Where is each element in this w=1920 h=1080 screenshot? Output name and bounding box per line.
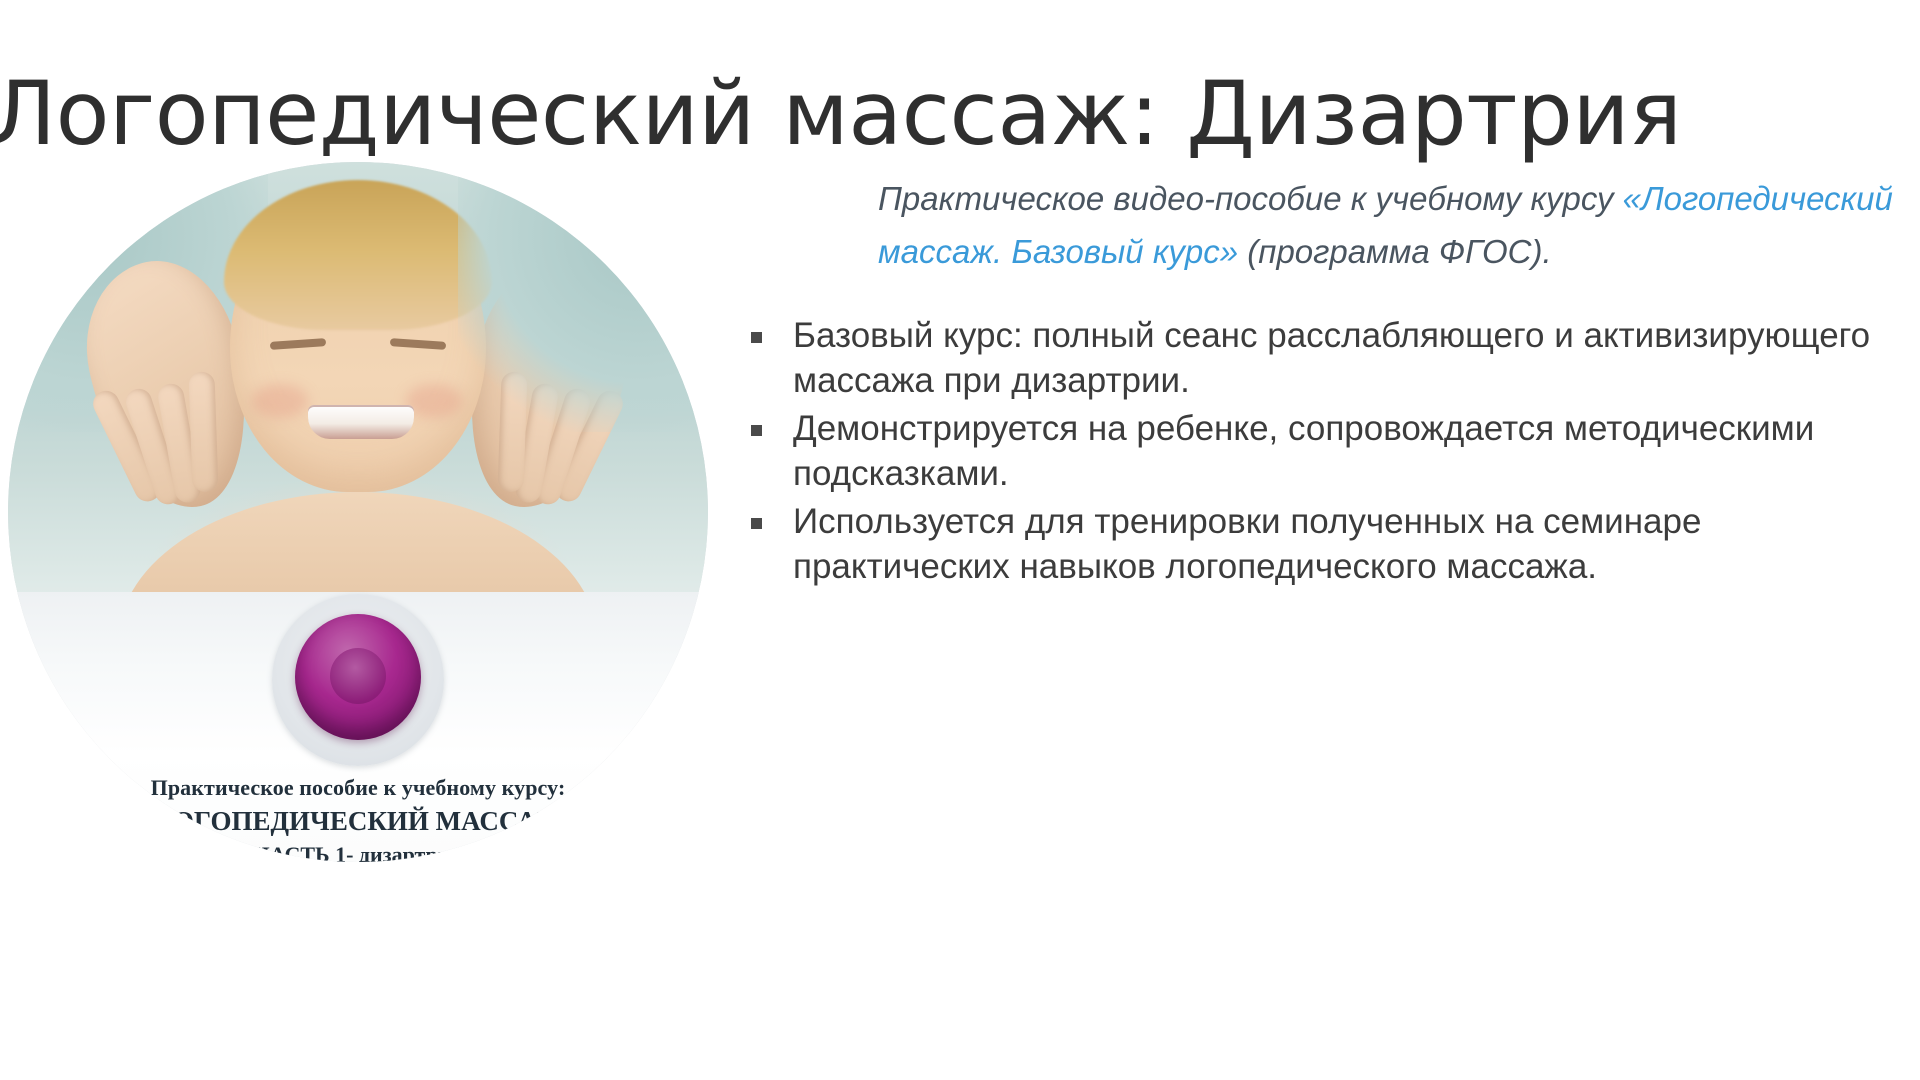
list-item: Демонстрируется на ребенке, сопровождает… [745,406,1920,497]
square-bullet-icon [751,425,762,436]
feature-list: Базовый курс: полный сеанс расслабляющег… [745,313,1920,590]
disc-printed-label: Практическое пособие к учебному курсу: «… [8,774,708,862]
child-hair [224,180,492,330]
product-description: Практическое видео-пособие к учебному ку… [745,172,1920,592]
list-item: Базовый курс: полный сеанс расслабляющег… [745,313,1920,404]
intro-paragraph: Практическое видео-пособие к учебному ку… [878,172,1920,279]
list-item: Используется для тренировки полученных н… [745,499,1920,590]
feature-text: Демонстрируется на ребенке, сопровождает… [793,409,1814,494]
disc-center-hole [330,648,386,704]
child-shoulders [118,492,598,602]
page-root: Логопедический массаж: Дизартрия [0,0,1920,1080]
child-cheek-right [406,384,462,418]
intro-line-3: (программа ФГОС). [1247,233,1551,270]
child-cheek-left [252,384,308,418]
disc-photo-child-massage [8,162,708,602]
feature-text: Базовый курс: полный сеанс расслабляющег… [793,316,1870,401]
intro-line-1: Практическое видео-пособие к учебному [878,180,1521,217]
therapist-hand-right-icon [448,247,647,523]
disc-label-line-2: «ЛОГОПЕДИЧЕСКИЙ МАССАЖ» [8,804,708,839]
child-smile [308,405,414,439]
square-bullet-icon [751,518,762,529]
product-disc-image: Практическое пособие к учебному курсу: «… [8,162,708,862]
intro-prefix-2: курсу [1530,180,1622,217]
cd-disc: Практическое пособие к учебному курсу: «… [8,162,708,862]
disc-label-line-1: Практическое пособие к учебному курсу: [8,774,708,802]
square-bullet-icon [751,332,762,343]
page-title: Логопедический массаж: Дизартрия [0,65,1920,164]
feature-text: Используется для тренировки полученных н… [793,502,1701,587]
disc-label-line-3: (ЧАСТЬ 1- дизартрия) [8,841,708,862]
